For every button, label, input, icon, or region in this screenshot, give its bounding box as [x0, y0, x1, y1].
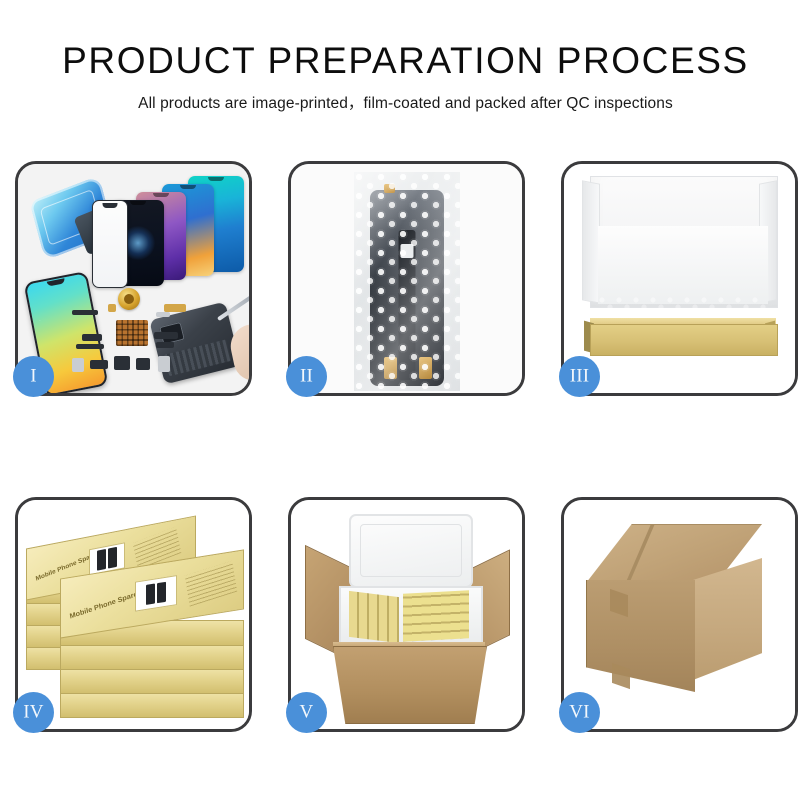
part-screw-icon: [108, 304, 116, 312]
part-cable-icon: [76, 344, 104, 349]
step-5-image: [291, 500, 522, 729]
carton-body-icon: [333, 646, 487, 724]
step-3-image: [564, 164, 795, 393]
process-step-grid: I II: [15, 161, 798, 732]
step-numeral-3: III: [570, 367, 590, 386]
gold-boxes-right-group-icon: [403, 590, 469, 641]
step-badge-4: IV: [13, 692, 54, 733]
page-title: PRODUCT PREPARATION PROCESS: [0, 40, 811, 81]
step-numeral-4: IV: [23, 703, 43, 722]
step-6-image: [564, 500, 795, 729]
process-step-card-2[interactable]: II: [288, 161, 525, 396]
part-battery-icon: [158, 356, 170, 372]
part-connector-icon: [82, 334, 102, 341]
inner-foam-liner-icon: [598, 226, 768, 304]
bubble-wrap-sleeve-icon: [354, 172, 460, 391]
foam-lid-icon: [349, 514, 473, 588]
process-step-card-3[interactable]: III: [561, 161, 798, 396]
retail-box-front-5: [60, 692, 244, 718]
page-subtitle: All products are image-printed，film-coat…: [0, 91, 811, 113]
step-badge-2: II: [286, 356, 327, 397]
process-step-card-1[interactable]: I: [15, 161, 252, 396]
part-vibrator-icon: [114, 356, 130, 370]
step-numeral-5: V: [300, 703, 314, 722]
step-badge-1: I: [13, 356, 54, 397]
part-camera-module-icon: [90, 360, 108, 369]
step-1-image: [18, 164, 249, 393]
step-2-image: [291, 164, 522, 393]
step-numeral-2: II: [300, 367, 313, 386]
gold-boxes-left-group-icon: [349, 591, 399, 643]
spare-parts-cluster: [72, 300, 212, 386]
part-clip-icon: [156, 312, 170, 317]
retail-box-front-4: [60, 668, 244, 694]
step-badge-3: III: [559, 356, 600, 397]
phone-display-fan: [104, 174, 249, 284]
part-sim-tray-icon: [72, 358, 84, 372]
step-4-image: Mobile Phone Spare Parts Mobile Phone Sp…: [18, 500, 249, 729]
retail-box-front-3: [60, 644, 244, 670]
phone-front-glass-icon: [92, 200, 128, 288]
page-header: PRODUCT PREPARATION PROCESS All products…: [0, 0, 811, 113]
retail-box-stack: Mobile Phone Spare Parts Mobile Phone Sp…: [24, 514, 249, 724]
process-step-card-4[interactable]: Mobile Phone Spare Parts Mobile Phone Sp…: [15, 497, 252, 732]
process-step-card-6[interactable]: VI: [561, 497, 798, 732]
part-bracket-icon: [156, 342, 174, 348]
part-gold-flex-icon: [164, 304, 186, 312]
part-flex-cable-icon: [154, 332, 178, 339]
process-step-card-5[interactable]: V: [288, 497, 525, 732]
plastic-sheen-overlay: [354, 172, 460, 391]
part-button-icon: [136, 358, 150, 370]
part-speaker-icon: [72, 310, 98, 315]
kraft-box-front-icon: [590, 324, 778, 356]
step-numeral-1: I: [30, 367, 37, 386]
step-badge-6: VI: [559, 692, 600, 733]
step-badge-5: V: [286, 692, 327, 733]
chip-array-icon: [116, 320, 148, 346]
step-numeral-6: VI: [569, 703, 589, 722]
